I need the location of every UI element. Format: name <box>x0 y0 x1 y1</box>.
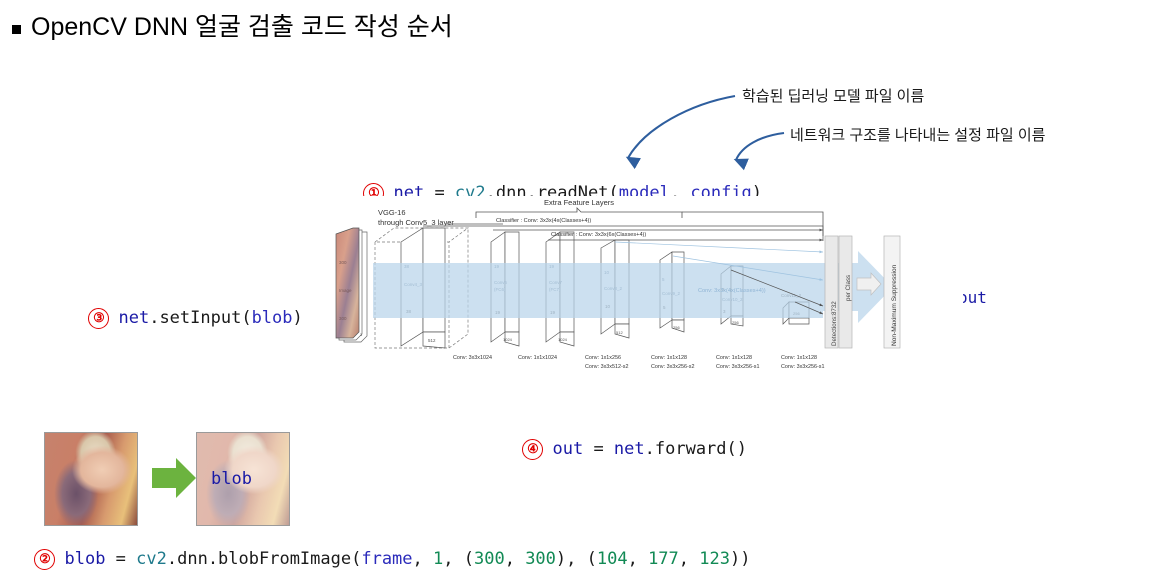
model-annotation-label: 학습된 딥러닝 모델 파일 이름 <box>742 85 924 106</box>
svg-text:1024: 1024 <box>558 337 568 342</box>
detections-label: Detections:8732 <box>831 301 838 346</box>
step-marker-4: ④ <box>522 439 543 460</box>
ssd-architecture-diagram: 300 Image 300 3 VGG-16 through Conv5_3 l… <box>333 196 963 403</box>
page-title: OpenCV DNN 얼굴 검출 코드 작성 순서 <box>31 12 453 42</box>
lena-source-image <box>44 432 138 526</box>
code-token: cv2 <box>136 549 167 569</box>
vgg-label-line1: VGG-16 <box>378 208 406 217</box>
inner-conv-label: Conv: 3x3x(4x(Classes+4)) <box>698 288 766 294</box>
square-bullet-icon <box>12 25 21 34</box>
svg-text:512: 512 <box>428 338 436 343</box>
svg-text:512: 512 <box>616 330 623 335</box>
svg-text:Conv: 3x3x256-s1: Conv: 3x3x256-s1 <box>781 364 824 370</box>
ssd-bottom-captions: Conv: 3x3x1024 Conv: 1x1x1024 Conv: 1x1x… <box>453 355 824 370</box>
lena-blob-image: blob <box>196 432 290 526</box>
svg-text:256: 256 <box>673 325 680 330</box>
extra-feature-layers-label: Extra Feature Layers <box>544 198 614 207</box>
code-token: 300 <box>525 549 556 569</box>
code-token: 300 <box>474 549 505 569</box>
code-token: = <box>105 549 136 569</box>
conversion-arrow-icon <box>150 455 198 501</box>
code-token: ), ( <box>556 549 597 569</box>
svg-text:Conv: 1x1x128: Conv: 1x1x128 <box>651 355 687 361</box>
classifier-label-1: Classifier : Conv: 3x3x(4x(Classes+4)) <box>496 218 591 224</box>
code-token: ) <box>293 308 303 328</box>
svg-text:Conv: 3x3x256-s2: Conv: 3x3x256-s2 <box>651 364 694 370</box>
svg-text:300: 300 <box>339 260 347 265</box>
ssd-highlight-band <box>373 251 893 323</box>
svg-text:Conv: 1x1x256: Conv: 1x1x256 <box>585 355 621 361</box>
code-tokens-forward: out = net.forward() <box>552 439 747 459</box>
nms-label: Non-Maximum Suppression <box>891 264 898 346</box>
code-token: net <box>614 439 645 459</box>
code-line-setinput: ③net.setInput(blob) <box>68 288 303 329</box>
code-token: )) <box>730 549 750 569</box>
blob-label: blob <box>211 469 252 489</box>
code-token: 177 <box>648 549 679 569</box>
code-token: = <box>583 439 614 459</box>
ssd-diagram-svg: 300 Image 300 3 VGG-16 through Conv5_3 l… <box>333 196 963 403</box>
svg-text:256: 256 <box>732 320 739 325</box>
vgg-label-line2: through Conv5_3 layer <box>378 218 454 227</box>
code-token: .forward() <box>645 439 747 459</box>
classifier-label-2: Classifier : Conv: 3x3x(6x(Classes+4)) <box>551 232 646 238</box>
code-token: , <box>505 549 525 569</box>
code-token: .setInput( <box>149 308 251 328</box>
code-token: 1 <box>433 549 443 569</box>
code-token: 104 <box>597 549 628 569</box>
code-token: .dnn.blobFromImage( <box>167 549 361 569</box>
step-marker-3: ③ <box>88 308 109 329</box>
code-token: out <box>552 439 583 459</box>
svg-text:300: 300 <box>339 316 347 321</box>
code-line-blobfromimage: ②blob = cv2.dnn.blobFromImage(frame, 1, … <box>14 529 750 570</box>
svg-text:Conv: 3x3x256-s1: Conv: 3x3x256-s1 <box>716 364 759 370</box>
svg-text:Conv: 1x1x128: Conv: 1x1x128 <box>781 355 817 361</box>
code-tokens-setinput: net.setInput(blob) <box>118 308 302 328</box>
svg-text:Conv: 3x3x1024: Conv: 3x3x1024 <box>453 355 492 361</box>
svg-text:Conv: 1x1x1024: Conv: 1x1x1024 <box>518 355 557 361</box>
model-arrow-icon <box>628 96 735 158</box>
ssd-input-image: 300 Image 300 3 <box>336 228 367 342</box>
slide-title-row: OpenCV DNN 얼굴 검출 코드 작성 순서 <box>12 12 453 42</box>
svg-text:Conv: 3x3x512-s2: Conv: 3x3x512-s2 <box>585 364 628 370</box>
code-token: , ( <box>443 549 474 569</box>
config-annotation-label: 네트워크 구조를 나타내는 설정 파일 이름 <box>790 124 1045 145</box>
svg-text:Conv: 1x1x128: Conv: 1x1x128 <box>716 355 752 361</box>
svg-text:1024: 1024 <box>503 337 513 342</box>
svg-text:Image: Image <box>339 288 352 293</box>
code-line-forward: ④out = net.forward() <box>502 419 747 460</box>
code-token: , <box>679 549 699 569</box>
code-token: , <box>628 549 648 569</box>
code-token: 123 <box>699 549 730 569</box>
code-token: blob <box>64 549 105 569</box>
code-token: blob <box>252 308 293 328</box>
ssd-nms-bar: Non-Maximum Suppression <box>884 236 900 348</box>
code-tokens-blobfromimage: blob = cv2.dnn.blobFromImage(frame, 1, (… <box>64 549 750 569</box>
code-token: , <box>413 549 433 569</box>
config-arrow-icon <box>736 133 784 160</box>
code-token: frame <box>361 549 412 569</box>
code-token: net <box>118 308 149 328</box>
per-class-label: per Class <box>845 275 852 301</box>
